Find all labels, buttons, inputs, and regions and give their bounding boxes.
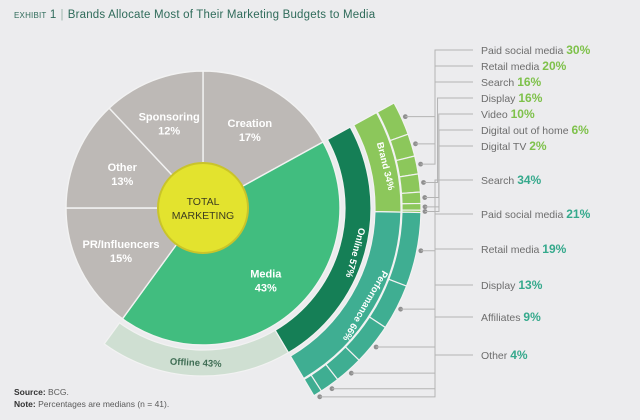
source-line: Source: BCG. [14, 387, 169, 399]
legend-item-performance-other[interactable]: Other 4% [481, 349, 528, 362]
exhibit-chart-page: Exhibit 1|Brands Allocate Most of Their … [0, 0, 640, 420]
note-value: Percentages are medians (n = 41). [38, 399, 169, 409]
legend-item-performance-retail-media[interactable]: Retail media 19% [481, 243, 566, 256]
legend-item-performance-paid-social-media[interactable]: Paid social media 21% [481, 208, 590, 221]
legend-value: 21% [566, 207, 590, 221]
source-value: BCG. [48, 387, 69, 397]
legend-label: Retail media [481, 244, 542, 256]
legend-label: Affiliates [481, 312, 523, 324]
note-line: Note: Percentages are medians (n = 41). [14, 399, 169, 411]
source-label: Source: [14, 387, 46, 397]
legend-label: Other [481, 350, 510, 362]
legend-label: Paid social media [481, 209, 566, 221]
note-label: Note: [14, 399, 36, 409]
legend-value: 13% [518, 278, 542, 292]
footer-notes: Source: BCG. Note: Percentages are media… [14, 387, 169, 410]
legend-value: 4% [510, 348, 527, 362]
legend-performance-group: Search 34%Paid social media 21%Retail me… [0, 0, 640, 420]
legend-value: 34% [517, 173, 541, 187]
legend-item-performance-display[interactable]: Display 13% [481, 279, 542, 292]
legend-label: Search [481, 175, 517, 187]
legend-label: Display [481, 280, 518, 292]
legend-item-performance-search[interactable]: Search 34% [481, 174, 541, 187]
legend-value: 19% [542, 242, 566, 256]
legend-value: 9% [523, 310, 540, 324]
legend-item-performance-affiliates[interactable]: Affiliates 9% [481, 311, 541, 324]
